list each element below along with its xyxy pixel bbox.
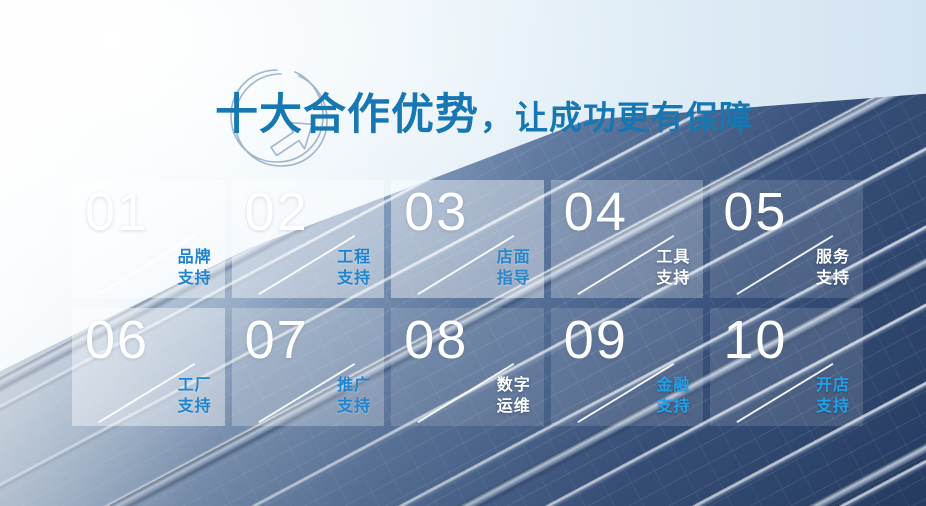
card-number: 06 [85, 312, 149, 369]
advantage-card[interactable]: 08数字运维 [391, 308, 544, 426]
card-number: 08 [404, 312, 468, 369]
card-label-line1: 工厂 [178, 377, 212, 394]
card-label-line2: 支持 [337, 269, 371, 289]
card-label: 推广支持 [337, 376, 371, 417]
title-comma: ， [479, 99, 515, 136]
card-number: 07 [245, 312, 309, 369]
card-label-line2: 支持 [337, 397, 371, 417]
promo-banner: 十大合作优势，让成功更有保障 01品牌支持02工程支持03店面指导04工具支持0… [0, 0, 926, 506]
card-label: 品牌支持 [178, 248, 212, 289]
card-label-line1: 服务 [816, 249, 850, 266]
title-sub: 让成功更有保障 [515, 99, 753, 136]
card-label: 服务支持 [816, 248, 850, 289]
banner-header: 十大合作优势，让成功更有保障 [0, 28, 926, 158]
card-label-line1: 推广 [337, 377, 371, 394]
page-title: 十大合作优势，让成功更有保障 [0, 80, 926, 142]
advantage-card[interactable]: 05服务支持 [710, 180, 863, 298]
card-label-line1: 工程 [337, 249, 371, 266]
card-label-line2: 指导 [497, 269, 531, 289]
card-label-line2: 支持 [816, 269, 850, 289]
card-label-line1: 开店 [816, 377, 850, 394]
card-label-line1: 数字 [497, 377, 531, 394]
card-number: 10 [723, 312, 787, 369]
title-main: 十大合作优势 [215, 91, 479, 139]
card-label: 金融支持 [656, 376, 690, 417]
card-number: 09 [564, 312, 628, 369]
advantage-card[interactable]: 07推广支持 [232, 308, 385, 426]
card-number: 05 [723, 184, 787, 241]
card-label: 工具支持 [656, 248, 690, 289]
advantage-card[interactable]: 02工程支持 [232, 180, 385, 298]
card-label-line1: 店面 [497, 249, 531, 266]
advantage-card[interactable]: 10开店支持 [710, 308, 863, 426]
advantage-card[interactable]: 01品牌支持 [72, 180, 225, 298]
card-label-line2: 支持 [178, 269, 212, 289]
card-label-line2: 支持 [656, 269, 690, 289]
card-number: 04 [564, 184, 628, 241]
card-label-line2: 运维 [497, 397, 531, 417]
card-label: 开店支持 [816, 376, 850, 417]
advantage-card-grid: 01品牌支持02工程支持03店面指导04工具支持05服务支持06工厂支持07推广… [72, 180, 863, 426]
advantage-card[interactable]: 09金融支持 [551, 308, 704, 426]
advantage-card[interactable]: 03店面指导 [391, 180, 544, 298]
card-number: 02 [245, 184, 309, 241]
card-number: 03 [404, 184, 468, 241]
card-label-line2: 支持 [816, 397, 850, 417]
card-label-line2: 支持 [178, 397, 212, 417]
card-label: 数字运维 [497, 376, 531, 417]
advantage-card[interactable]: 06工厂支持 [72, 308, 225, 426]
card-label-line2: 支持 [656, 397, 690, 417]
card-label: 店面指导 [497, 248, 531, 289]
card-label-line1: 工具 [656, 249, 690, 266]
card-label: 工程支持 [337, 248, 371, 289]
advantage-card[interactable]: 04工具支持 [551, 180, 704, 298]
card-label-line1: 金融 [656, 377, 690, 394]
card-label-line1: 品牌 [178, 249, 212, 266]
card-label: 工厂支持 [178, 376, 212, 417]
card-number: 01 [85, 184, 149, 241]
